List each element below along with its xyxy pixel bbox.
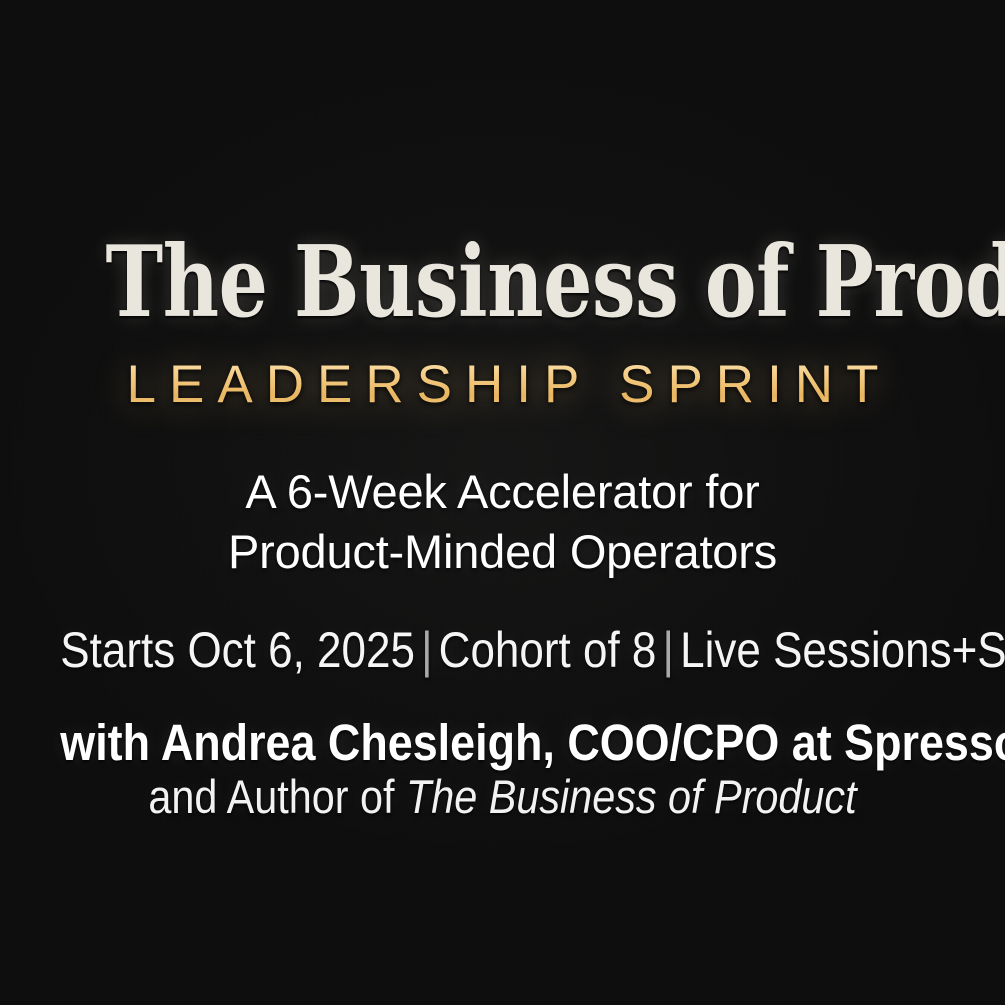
detail-separator-1: | xyxy=(415,622,439,678)
poster-details-strip: Starts Oct 6, 2025|Cohort of 8|Live Sess… xyxy=(60,623,944,677)
poster-content: The Business of Product LEADERSHIP SPRIN… xyxy=(0,0,1005,1005)
detail-cohort-size: Cohort of 8 xyxy=(439,622,657,678)
poster-title: The Business of Product xyxy=(106,234,900,332)
author-book-title: The Business of Product xyxy=(406,770,857,823)
poster-eyebrow-leadership-sprint: LEADERSHIP SPRINT xyxy=(0,358,1005,411)
presenter-line: with Andrea Chesleigh, COO/CPO at Spress… xyxy=(60,716,944,770)
detail-format: Live Sessions+Strategy xyxy=(680,622,1005,678)
author-credit-prefix: and Author of xyxy=(148,770,406,823)
poster-tagline: A 6-Week Accelerator for Product-Minded … xyxy=(0,462,1005,582)
author-credit-line: and Author of The Business of Product xyxy=(60,772,944,822)
tagline-line-2: Product-Minded Operators xyxy=(0,522,1005,582)
detail-separator-2: | xyxy=(656,622,680,678)
promo-poster: The Business of Product LEADERSHIP SPRIN… xyxy=(0,0,1005,1005)
detail-start-date: Starts Oct 6, 2025 xyxy=(60,622,415,678)
tagline-line-1: A 6-Week Accelerator for xyxy=(0,462,1005,522)
